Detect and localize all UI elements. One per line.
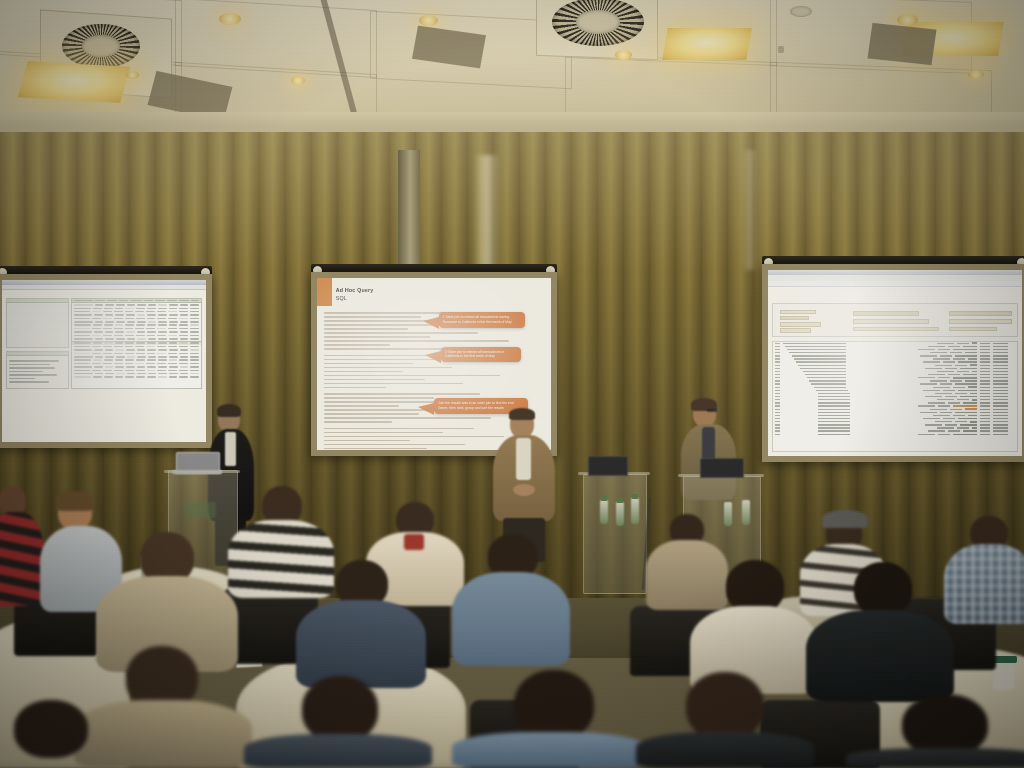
row-number <box>775 399 780 400</box>
table-cell <box>136 376 145 378</box>
plan-cost <box>948 346 960 347</box>
plan-detail <box>993 418 1008 419</box>
plan-duration-bar <box>958 418 977 420</box>
object-browser-pane[interactable] <box>6 298 69 349</box>
table-cell <box>115 324 124 326</box>
table-cell <box>74 366 91 368</box>
plan-object <box>918 405 935 406</box>
table-cell <box>74 356 92 358</box>
table-cell <box>94 366 103 368</box>
sql-code-line <box>324 440 410 442</box>
plan-cost <box>950 352 962 353</box>
projection-screen-right <box>762 256 1024 462</box>
plan-step-label <box>805 374 846 375</box>
plan-rows-count <box>980 352 990 353</box>
plan-duration-bar <box>960 368 977 370</box>
screen-surface-left <box>2 280 206 442</box>
table-cell <box>95 338 104 340</box>
plan-step-label <box>818 418 850 419</box>
table-cell <box>135 346 144 348</box>
table-cell <box>125 359 134 361</box>
plan-object <box>918 377 935 378</box>
sql-code-line <box>324 417 491 419</box>
table-cell <box>157 318 166 320</box>
slide-title: Ad Hoc Query <box>336 288 374 296</box>
plan-duration-bar <box>970 364 977 366</box>
plan-step-label <box>818 415 850 416</box>
downlight-2 <box>291 76 305 85</box>
plan-cost <box>943 418 955 419</box>
table-cell <box>190 366 199 368</box>
plan-cost <box>938 434 950 435</box>
plan-detail <box>993 346 1008 347</box>
table-cell <box>114 328 123 330</box>
table-cell <box>104 342 113 344</box>
table-cell <box>105 331 114 333</box>
plan-object <box>925 424 942 425</box>
table-cell <box>168 370 177 372</box>
plan-detail <box>993 405 1008 406</box>
plan-detail <box>993 424 1008 425</box>
bottle-cap-1 <box>601 496 607 501</box>
row-number <box>775 361 780 362</box>
sql-code-line <box>324 355 438 357</box>
plan-cost <box>953 415 965 416</box>
table-cell <box>104 308 113 310</box>
water-bottle-5 <box>742 500 750 525</box>
table-cell <box>168 353 177 355</box>
table-cell <box>168 363 177 365</box>
table-cell <box>74 359 91 361</box>
plan-cost <box>938 377 950 378</box>
table-cell <box>147 331 156 333</box>
plan-rows-count <box>980 393 990 394</box>
row-number <box>775 377 780 378</box>
plan-object <box>918 434 935 435</box>
table-cell <box>104 376 113 378</box>
app-toolbar-secondary[interactable] <box>768 281 1022 287</box>
table-cell <box>74 342 91 344</box>
table-cell <box>74 373 92 375</box>
plan-object <box>918 349 935 350</box>
table-cell <box>190 338 199 340</box>
table-cell <box>135 311 144 313</box>
table-cell <box>190 304 199 306</box>
plan-duration-bar <box>968 358 978 360</box>
table-cell <box>190 342 199 344</box>
sql-code-line <box>324 405 399 407</box>
audience-member-front-2 <box>244 676 434 768</box>
sql-code-line <box>324 387 386 389</box>
table-cell <box>92 370 101 372</box>
plan-step-label <box>816 390 848 391</box>
plan-step-label <box>818 399 850 400</box>
plan-rows-count <box>980 368 990 369</box>
table-cell <box>190 335 199 337</box>
row-number <box>775 380 780 381</box>
table-cell <box>136 370 145 372</box>
plan-step-label <box>787 349 846 350</box>
table-cell <box>95 373 104 375</box>
row-number <box>775 358 780 359</box>
slide-callout-1: 1 Table join to extract all transactions… <box>439 312 526 327</box>
table-cell <box>147 314 156 316</box>
table-cell <box>127 321 136 323</box>
table-cell <box>125 318 134 320</box>
table-cell <box>116 338 125 340</box>
audience-member-front-4 <box>636 672 816 768</box>
plan-step-label <box>818 421 850 422</box>
table-cell <box>148 373 157 375</box>
table-cell <box>114 335 123 337</box>
smoke-detector-icon <box>790 6 812 17</box>
row-number <box>775 409 780 410</box>
table-cell <box>168 311 177 313</box>
table-cell <box>92 328 101 330</box>
table-cell <box>180 366 189 368</box>
table-cell <box>169 373 178 375</box>
row-number <box>775 418 780 419</box>
plan-duration-bar <box>972 371 977 373</box>
table-cell <box>157 363 166 365</box>
plan-duration-bar <box>958 361 977 363</box>
coffee-cup <box>993 660 1015 690</box>
table-cell <box>104 359 113 361</box>
presenter-laptop-left-base <box>172 470 222 474</box>
plan-step-label <box>818 430 850 431</box>
plan-object <box>937 343 954 344</box>
table-cell <box>125 363 134 365</box>
plan-detail <box>993 412 1008 413</box>
plan-object <box>928 402 945 403</box>
sql-code-line <box>324 336 430 338</box>
table-cell <box>168 328 177 330</box>
table-cell <box>180 314 189 316</box>
properties-pane[interactable] <box>6 351 69 389</box>
presenter-left-shirt <box>225 432 236 466</box>
table-cell <box>125 370 134 372</box>
plan-step-label <box>800 368 846 369</box>
row-number <box>775 402 780 403</box>
plan-rows-count <box>980 377 990 378</box>
app-menubar[interactable] <box>2 285 206 290</box>
table-cell <box>157 346 166 348</box>
table-cell <box>74 321 92 323</box>
podium-items <box>186 502 216 518</box>
plan-cost <box>945 396 957 397</box>
plan-detail <box>993 371 1008 372</box>
plan-detail <box>993 399 1008 400</box>
plan-cost <box>950 409 962 410</box>
plan-step-label <box>807 377 846 378</box>
table-cell <box>157 370 166 372</box>
plan-object <box>920 383 937 384</box>
table-cell <box>93 308 102 310</box>
slide-title-group: Ad Hoc Query SQL <box>336 288 374 304</box>
table-cell <box>93 376 102 378</box>
table-cell <box>190 349 199 351</box>
plan-step-label <box>785 346 846 347</box>
plan-object <box>928 346 945 347</box>
audience-member-front-6 <box>0 700 130 768</box>
table-cell <box>179 359 188 361</box>
sql-code-line <box>324 448 427 450</box>
table-cell <box>158 308 167 310</box>
parameters-form[interactable] <box>772 303 1018 337</box>
table-cell <box>157 353 166 355</box>
row-number <box>775 427 780 428</box>
table-cell <box>146 346 155 348</box>
table-cell <box>114 318 123 320</box>
table-cell <box>147 359 156 361</box>
plan-rows-count <box>980 409 990 410</box>
row-number <box>775 346 780 347</box>
table-cell <box>168 346 177 348</box>
plan-object <box>933 358 950 359</box>
table-cell <box>74 324 91 326</box>
table-cell <box>179 328 188 330</box>
table-cell <box>125 308 134 310</box>
table-cell <box>179 370 188 372</box>
table-cell <box>116 321 125 323</box>
table-cell <box>126 314 135 316</box>
table-cell <box>74 363 89 365</box>
presenter-right-glasses-icon <box>707 409 717 412</box>
downlight-1 <box>219 13 241 25</box>
row-number <box>775 396 780 397</box>
results-grid[interactable] <box>71 298 202 389</box>
plan-detail <box>993 393 1008 394</box>
plan-step-label <box>818 412 850 413</box>
plan-cost <box>943 390 955 391</box>
table-cell <box>190 363 199 365</box>
table-cell <box>147 366 156 368</box>
table-cell <box>114 311 123 313</box>
table-cell <box>179 318 188 320</box>
plan-rows-count <box>980 424 990 425</box>
plan-object <box>923 418 940 419</box>
plan-object <box>920 355 937 356</box>
table-cell <box>158 349 167 351</box>
row-number <box>775 371 780 372</box>
plan-step-label <box>818 409 850 410</box>
projection-screen-left <box>0 266 212 448</box>
table-cell <box>169 338 178 340</box>
sql-code-line <box>324 383 463 385</box>
table-cell <box>190 311 199 313</box>
table-cell <box>146 328 155 330</box>
audience-member-front-5 <box>846 694 1024 768</box>
row-number <box>775 349 780 350</box>
plan-detail <box>993 377 1008 378</box>
plan-cost <box>940 412 952 413</box>
table-cell <box>148 321 157 323</box>
table-cell <box>125 342 134 344</box>
plan-detail <box>993 402 1008 403</box>
table-cell <box>126 349 135 351</box>
sql-code-line <box>324 379 425 381</box>
table-cell <box>179 324 188 326</box>
table-cell <box>146 363 155 365</box>
downlight-4 <box>615 50 632 60</box>
table-cell <box>190 356 199 358</box>
row-number <box>775 355 780 356</box>
audience-member-checked-blue <box>944 516 1024 624</box>
plan-rows-count <box>980 415 990 416</box>
table-cell <box>180 356 189 358</box>
bottle-cap-3 <box>632 494 638 499</box>
plan-rows-count <box>980 399 990 400</box>
table-cell <box>92 311 101 313</box>
table-cell <box>158 356 167 358</box>
plan-cost <box>955 421 967 422</box>
table-cell <box>158 359 167 361</box>
plan-step-label <box>818 434 850 435</box>
plan-duration-bar <box>972 399 977 401</box>
plan-step-label <box>794 358 846 359</box>
table-cell <box>137 373 146 375</box>
plan-object <box>935 421 952 422</box>
table-cell <box>127 356 136 358</box>
table-cell <box>103 353 112 355</box>
table-cell <box>74 349 91 351</box>
row-number <box>775 352 780 353</box>
table-cell <box>136 308 145 310</box>
plan-object <box>928 374 945 375</box>
sql-code-line <box>324 444 465 446</box>
plan-cost <box>940 383 952 384</box>
plan-cost <box>957 371 969 372</box>
table-cell <box>148 304 157 306</box>
table-cell <box>103 328 112 330</box>
plan-cost <box>938 349 950 350</box>
plan-rows-count <box>980 390 990 391</box>
table-cell <box>103 318 112 320</box>
plan-duration-bar <box>953 405 977 407</box>
table-cell <box>157 311 166 313</box>
plan-duration-bar <box>955 383 977 385</box>
plan-rows-count <box>980 365 990 366</box>
row-number <box>775 421 780 422</box>
ceiling-vent-3 <box>867 23 936 65</box>
downlight-6 <box>968 70 984 79</box>
plan-step-label <box>818 396 850 397</box>
plan-step-label <box>814 387 846 388</box>
table-cell <box>190 353 199 355</box>
execution-plan-tree[interactable] <box>772 341 1018 453</box>
presenter-center-hands <box>513 484 535 496</box>
presenter-left-hair <box>217 404 241 417</box>
sql-code-line <box>324 328 408 330</box>
plan-rows-count <box>980 343 990 344</box>
plan-rows-count <box>980 402 990 403</box>
plan-cost <box>957 427 969 428</box>
plan-tree-row[interactable] <box>773 433 1017 436</box>
plan-detail <box>993 374 1008 375</box>
plan-rows-count <box>980 374 990 375</box>
plan-object <box>930 409 947 410</box>
plan-cost <box>957 343 969 344</box>
table-cell <box>147 324 156 326</box>
grey-cap-icon <box>822 510 868 528</box>
plan-rows-count <box>980 349 990 350</box>
table-cell <box>190 359 199 361</box>
table-cell <box>180 331 189 333</box>
plan-duration-bar <box>965 352 977 354</box>
swirl-diffuser-right-icon <box>552 0 644 46</box>
plan-step-label <box>811 383 846 384</box>
table-cell <box>92 363 101 365</box>
table-cell <box>190 321 199 323</box>
table-cell <box>137 356 146 358</box>
plan-duration-bar <box>963 346 978 348</box>
table-cell <box>74 338 92 340</box>
plan-detail <box>993 390 1008 391</box>
table-cell <box>125 346 134 348</box>
plan-rows-count <box>980 358 990 359</box>
table-cell <box>190 376 199 378</box>
plan-cost <box>948 430 960 431</box>
plan-rows-count <box>980 346 990 347</box>
table-cell <box>180 304 189 306</box>
table-cell <box>135 363 144 365</box>
plan-duration-bar <box>963 402 978 404</box>
row-number <box>775 434 780 435</box>
table-cell <box>74 311 89 313</box>
table-cell <box>158 321 167 323</box>
table-cell <box>74 304 92 306</box>
water-bottle-3 <box>631 498 639 524</box>
row-number <box>775 343 780 344</box>
table-cell <box>147 342 156 344</box>
downlight-5 <box>897 14 918 26</box>
audience-member-blue-center <box>452 534 572 666</box>
table-cell <box>169 324 178 326</box>
table-cell <box>146 311 155 313</box>
table-cell <box>93 342 102 344</box>
table-cell <box>158 373 167 375</box>
table-cell <box>158 314 167 316</box>
table-cell <box>105 314 114 316</box>
plan-duration-bar <box>953 349 977 351</box>
row-number <box>775 415 780 416</box>
row-number <box>775 405 780 406</box>
plan-step-label <box>798 365 846 366</box>
table-cell <box>103 346 112 348</box>
plan-duration-bar <box>960 396 977 398</box>
plan-rows-count <box>980 421 990 422</box>
plan-detail <box>993 355 1008 356</box>
table-cell <box>179 353 188 355</box>
plan-step-label <box>818 427 850 428</box>
plan-rows-count <box>980 371 990 372</box>
plan-cost <box>945 368 957 369</box>
slide-subtitle: SQL <box>336 296 347 302</box>
table-cell <box>190 324 199 326</box>
plan-cost <box>953 387 965 388</box>
sql-code-line <box>324 340 509 342</box>
plan-detail <box>993 421 1008 422</box>
table-cell <box>169 376 178 378</box>
plan-object <box>928 430 945 431</box>
table-cell <box>126 366 135 368</box>
table-cell <box>105 373 114 375</box>
water-bottle-2 <box>616 502 624 526</box>
table-cell <box>135 328 144 330</box>
table-cell <box>169 304 178 306</box>
plan-detail <box>993 343 1008 344</box>
table-row[interactable] <box>72 375 201 378</box>
